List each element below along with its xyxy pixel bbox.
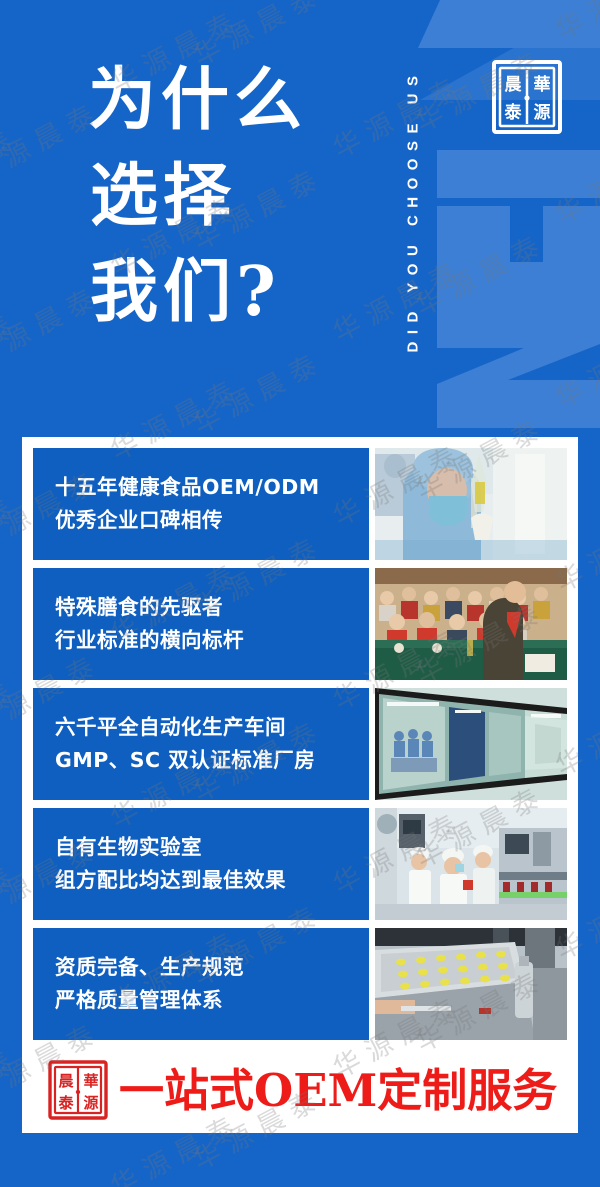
feature-row: 六千平全自动化生产车间 GMP、SC 双认证标准厂房 (33, 688, 567, 800)
feature-text-block: 自有生物实验室 组方配比均达到最佳效果 (33, 808, 369, 920)
feature-text-block: 特殊膳食的先驱者 行业标准的横向标杆 (33, 568, 369, 680)
svg-text:泰: 泰 (505, 102, 523, 123)
seal-logo-white: 晨 泰 華 源 (490, 57, 564, 137)
svg-text:華: 華 (83, 1072, 98, 1090)
headline-line-3: 我们? (90, 244, 307, 340)
svg-text:泰: 泰 (57, 1094, 74, 1112)
vertical-english-caption: DID YOU CHOOSE US (398, 14, 428, 406)
poster-root: 为什么 选择 我们? DID YOU CHOOSE US 晨 泰 華 源 (0, 0, 600, 1187)
feature-text-block: 六千平全自动化生产车间 GMP、SC 双认证标准厂房 (33, 688, 369, 800)
svg-text:華: 華 (534, 75, 551, 95)
headline-line-2: 选择 (90, 148, 307, 244)
feature-line-2: 优秀企业口碑相传 (55, 504, 369, 537)
feature-text-block: 十五年健康食品OEM/ODM 优秀企业口碑相传 (33, 448, 369, 560)
feature-line-2: GMP、SC 双认证标准厂房 (55, 744, 369, 777)
banner-text: 一站式OEM定制服务 (119, 1068, 557, 1113)
feature-line-1: 资质完备、生产规范 (55, 951, 369, 984)
feature-row: 特殊膳食的先驱者 行业标准的横向标杆 (33, 568, 567, 680)
feature-list: 十五年健康食品OEM/ODM 优秀企业口碑相传 (33, 448, 567, 1040)
feature-row: 资质完备、生产规范 严格质量管理体系 (33, 928, 567, 1040)
feature-row: 十五年健康食品OEM/ODM 优秀企业口碑相传 (33, 448, 567, 560)
watermark-text: 华源晨泰 华源晨泰 华源晨泰 华源晨泰 华源晨泰 华源晨泰 华源晨泰 华源晨泰 … (0, 0, 600, 34)
seal-logo-red: 晨 泰 華 源 (47, 1059, 109, 1121)
feature-line-2: 组方配比均达到最佳效果 (55, 864, 369, 897)
svg-text:晨: 晨 (505, 75, 523, 95)
feature-line-1: 特殊膳食的先驱者 (55, 591, 369, 624)
feature-photo-lab-technician-testing-sample (375, 448, 567, 560)
feature-line-1: 十五年健康食品OEM/ODM (55, 471, 369, 504)
feature-line-1: 六千平全自动化生产车间 (55, 711, 369, 744)
feature-photo-conference-audience-hall (375, 568, 567, 680)
bottom-banner: 晨 泰 華 源 一站式OEM定制服务 (33, 1056, 567, 1124)
feature-line-2: 行业标准的横向标杆 (55, 624, 369, 657)
feature-photo-workers-inspecting-production-line (375, 808, 567, 920)
feature-line-2: 严格质量管理体系 (55, 984, 369, 1017)
feature-row: 自有生物实验室 组方配比均达到最佳效果 (33, 808, 567, 920)
svg-text:源: 源 (534, 102, 551, 123)
feature-photo-tablet-blister-packaging-machine (375, 928, 567, 1040)
headline-line-1: 为什么 (88, 52, 307, 148)
svg-text:晨: 晨 (58, 1072, 74, 1090)
vertical-english-text: DID YOU CHOOSE US (405, 68, 422, 352)
feature-panel: 十五年健康食品OEM/ODM 优秀企业口碑相传 (22, 437, 578, 1133)
feature-line-1: 自有生物实验室 (55, 831, 369, 864)
feature-text-block: 资质完备、生产规范 严格质量管理体系 (33, 928, 369, 1040)
svg-text:源: 源 (83, 1094, 98, 1112)
headline: 为什么 选择 我们? (88, 52, 307, 340)
feature-photo-clean-room-production-corridor (375, 688, 567, 800)
